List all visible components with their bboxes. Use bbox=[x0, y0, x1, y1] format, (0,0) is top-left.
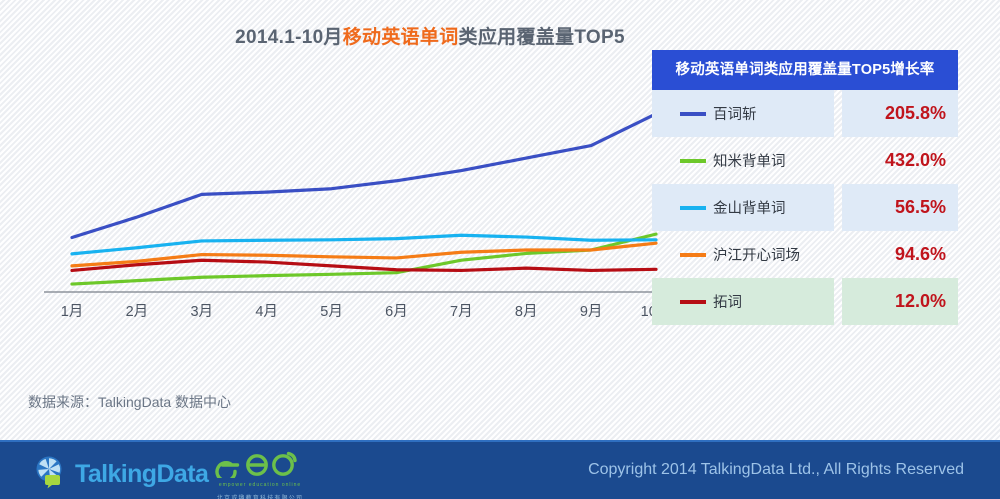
page-title: 2014.1-10月移动英语单词类应用覆盖量TOP5 bbox=[0, 22, 860, 49]
legend-label-cell: 拓词 bbox=[652, 278, 834, 325]
table-row[interactable]: 沪江开心词场94.6% bbox=[652, 231, 958, 278]
x-axis-tick-label: 1月 bbox=[61, 300, 84, 321]
growth-rate-value: 205.8% bbox=[885, 103, 946, 124]
table-row[interactable]: 金山背单词56.5% bbox=[652, 184, 958, 231]
talkingdata-logo: TalkingData bbox=[34, 455, 208, 494]
table-row[interactable]: 拓词12.0% bbox=[652, 278, 958, 325]
legend-value-cell: 432.0% bbox=[842, 137, 958, 184]
legend-label-cell: 知米背单词 bbox=[652, 137, 834, 184]
title-prefix: 2014.1-10月 bbox=[235, 27, 343, 48]
legend-label-cell: 沪江开心词场 bbox=[652, 231, 834, 278]
legend-app-name: 金山背单词 bbox=[713, 197, 786, 218]
footer-bar: TalkingData empower education online 北京或… bbox=[0, 440, 1000, 499]
growth-rate-value: 12.0% bbox=[895, 291, 946, 312]
chart-series-group bbox=[72, 114, 656, 284]
legend-color-swatch-icon bbox=[680, 253, 706, 257]
x-axis-labels: 1月2月3月4月5月6月7月8月9月10月 bbox=[30, 300, 670, 326]
x-axis-tick-label: 5月 bbox=[320, 300, 343, 321]
x-axis-tick-label: 2月 bbox=[126, 300, 149, 321]
x-axis-tick-label: 6月 bbox=[385, 300, 408, 321]
legend-label-cell: 百词斩 bbox=[652, 90, 834, 137]
ego-logo: empower education online 北京或趣教育科技有限公司 bbox=[200, 448, 320, 499]
x-axis-tick-label: 8月 bbox=[515, 300, 538, 321]
talkingdata-wordmark: TalkingData bbox=[75, 460, 208, 489]
series-line bbox=[72, 114, 656, 238]
growth-rate-table: 移动英语单词类应用覆盖量TOP5增长率 百词斩205.8%知米背单词432.0%… bbox=[652, 50, 958, 325]
ego-wordmark-icon bbox=[212, 465, 308, 482]
legend-app-name: 知米背单词 bbox=[713, 150, 786, 171]
x-axis-tick-label: 7月 bbox=[450, 300, 473, 321]
slide-canvas: 2014.1-10月移动英语单词类应用覆盖量TOP5 1月2月3月4月5月6月7… bbox=[0, 0, 1000, 499]
legend-value-cell: 56.5% bbox=[842, 184, 958, 231]
x-axis-tick-label: 4月 bbox=[255, 300, 278, 321]
series-line bbox=[72, 260, 656, 270]
growth-rate-value: 94.6% bbox=[895, 244, 946, 265]
ego-company-name: 北京或趣教育科技有限公司 bbox=[200, 493, 320, 499]
table-row[interactable]: 百词斩205.8% bbox=[652, 90, 958, 137]
table-row[interactable]: 知米背单词432.0% bbox=[652, 137, 958, 184]
pinwheel-icon bbox=[34, 455, 68, 494]
growth-rate-value: 56.5% bbox=[895, 197, 946, 218]
copyright-text: Copyright 2014 TalkingData Ltd., All Rig… bbox=[588, 461, 964, 479]
legend-value-cell: 12.0% bbox=[842, 278, 958, 325]
growth-rate-table-body: 百词斩205.8%知米背单词432.0%金山背单词56.5%沪江开心词场94.6… bbox=[652, 90, 958, 325]
legend-value-cell: 205.8% bbox=[842, 90, 958, 137]
legend-color-swatch-icon bbox=[680, 159, 706, 163]
legend-label-cell: 金山背单词 bbox=[652, 184, 834, 231]
title-highlight: 移动英语单词 bbox=[343, 27, 459, 48]
title-suffix: 类应用覆盖量TOP5 bbox=[459, 27, 625, 48]
legend-color-swatch-icon bbox=[680, 300, 706, 304]
legend-color-swatch-icon bbox=[680, 112, 706, 116]
x-axis-tick-label: 9月 bbox=[580, 300, 603, 321]
growth-rate-table-header: 移动英语单词类应用覆盖量TOP5增长率 bbox=[652, 50, 958, 90]
ego-tagline: empower education online bbox=[200, 482, 320, 488]
x-axis-tick-label: 3月 bbox=[190, 300, 213, 321]
legend-color-swatch-icon bbox=[680, 206, 706, 210]
line-chart bbox=[30, 55, 670, 305]
legend-app-name: 沪江开心词场 bbox=[713, 244, 800, 265]
growth-rate-value: 432.0% bbox=[885, 150, 946, 171]
chart-svg bbox=[30, 55, 670, 305]
legend-app-name: 拓词 bbox=[713, 291, 742, 312]
legend-value-cell: 94.6% bbox=[842, 231, 958, 278]
source-note: 数据来源：TalkingData 数据中心 bbox=[28, 392, 231, 412]
legend-app-name: 百词斩 bbox=[713, 103, 757, 124]
